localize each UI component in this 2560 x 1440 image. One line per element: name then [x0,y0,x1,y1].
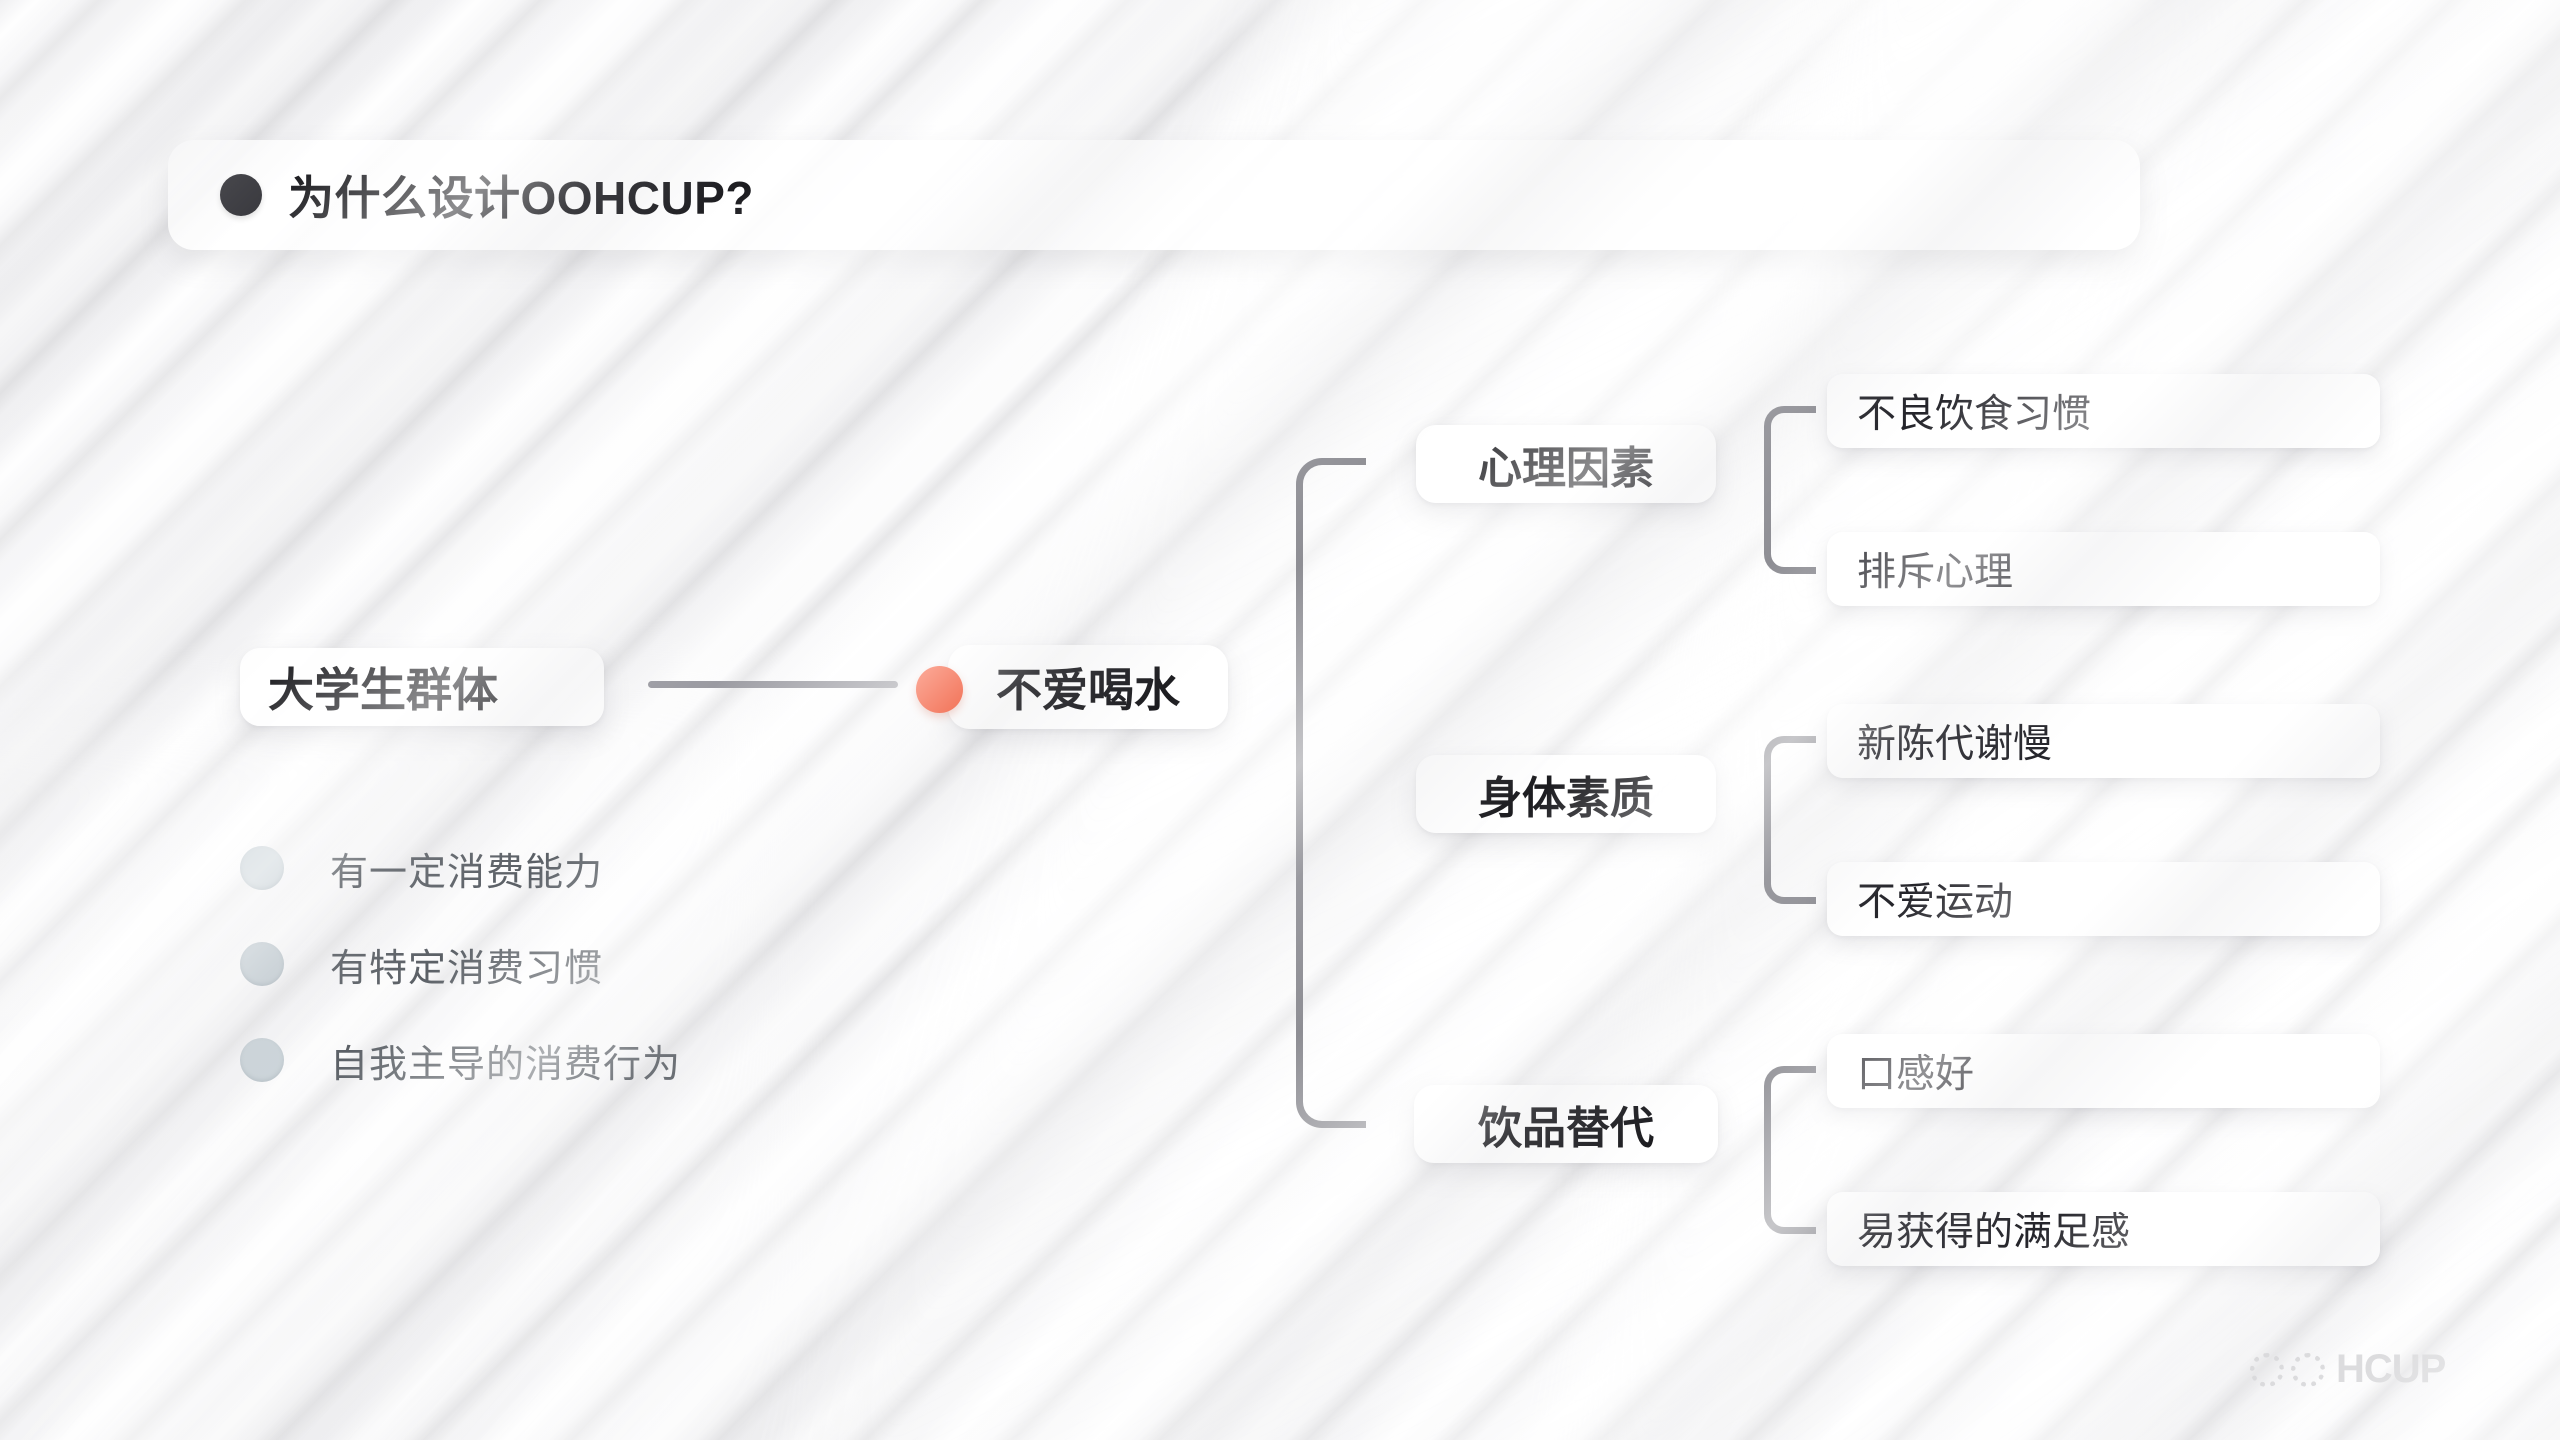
audience-trait-label: 有一定消费能力 [330,841,603,896]
category-bracket-connector [1764,736,1816,904]
leaf-node-card[interactable]: 新陈代谢慢 [1827,704,2380,778]
slide-canvas: 为什么设计OOHCUP? 大学生群体 不爱喝水 有一定消费能力 有特定消费习惯 … [0,0,2560,1440]
category-bracket-connector [1764,406,1816,574]
audience-trait-label: 有特定消费习惯 [330,937,603,992]
slide-title-bar: 为什么设计OOHCUP? [168,140,2140,250]
leaf-label: 不爱运动 [1857,871,2013,927]
watermark-label: HCUP [2336,1347,2445,1392]
category-node-card[interactable]: 身体素质 [1416,755,1716,833]
leaf-node-card[interactable]: 口感好 [1827,1034,2380,1108]
leaf-label: 不良饮食习惯 [1857,383,2091,439]
leaf-node-card[interactable]: 排斥心理 [1827,532,2380,606]
leaf-label: 排斥心理 [1857,541,2013,597]
focus-node-label: 不爱喝水 [996,654,1180,720]
category-node-card[interactable]: 心理因素 [1416,425,1716,503]
brand-watermark: HCUP [2250,1347,2445,1392]
audience-traits-list: 有一定消费能力 有特定消费习惯 自我主导的消费行为 [240,820,681,1108]
leaf-node-card[interactable]: 易获得的满足感 [1827,1192,2380,1266]
bullet-circle-icon [240,1038,284,1082]
audience-trait-label: 自我主导的消费行为 [330,1033,681,1088]
root-node-card[interactable]: 大学生群体 [240,648,604,726]
dotted-circle-icon [2250,1353,2284,1387]
leaf-node-card[interactable]: 不良饮食习惯 [1827,374,2380,448]
dotted-circle-icon [2291,1353,2325,1387]
leaf-label: 口感好 [1857,1043,1974,1099]
category-bracket-connector [1764,1066,1816,1234]
leaf-label: 新陈代谢慢 [1857,713,2052,769]
bullet-circle-icon [240,942,284,986]
category-node-card[interactable]: 饮品替代 [1414,1085,1718,1163]
focus-dot-icon [916,666,963,713]
root-to-focus-connector [648,681,898,688]
root-node-label: 大学生群体 [268,654,498,720]
focus-node-card[interactable]: 不爱喝水 [948,645,1228,729]
filled-circle-icon [220,174,262,216]
bullet-circle-icon [240,846,284,890]
category-label: 身体素质 [1478,762,1654,826]
list-item: 有一定消费能力 [240,820,681,916]
list-item: 有特定消费习惯 [240,916,681,1012]
leaf-node-card[interactable]: 不爱运动 [1827,862,2380,936]
main-bracket-connector [1296,458,1366,1128]
category-label: 心理因素 [1478,432,1654,496]
category-label: 饮品替代 [1478,1092,1654,1156]
leaf-label: 易获得的满足感 [1857,1201,2130,1257]
list-item: 自我主导的消费行为 [240,1012,681,1108]
page-title: 为什么设计OOHCUP? [288,162,754,228]
